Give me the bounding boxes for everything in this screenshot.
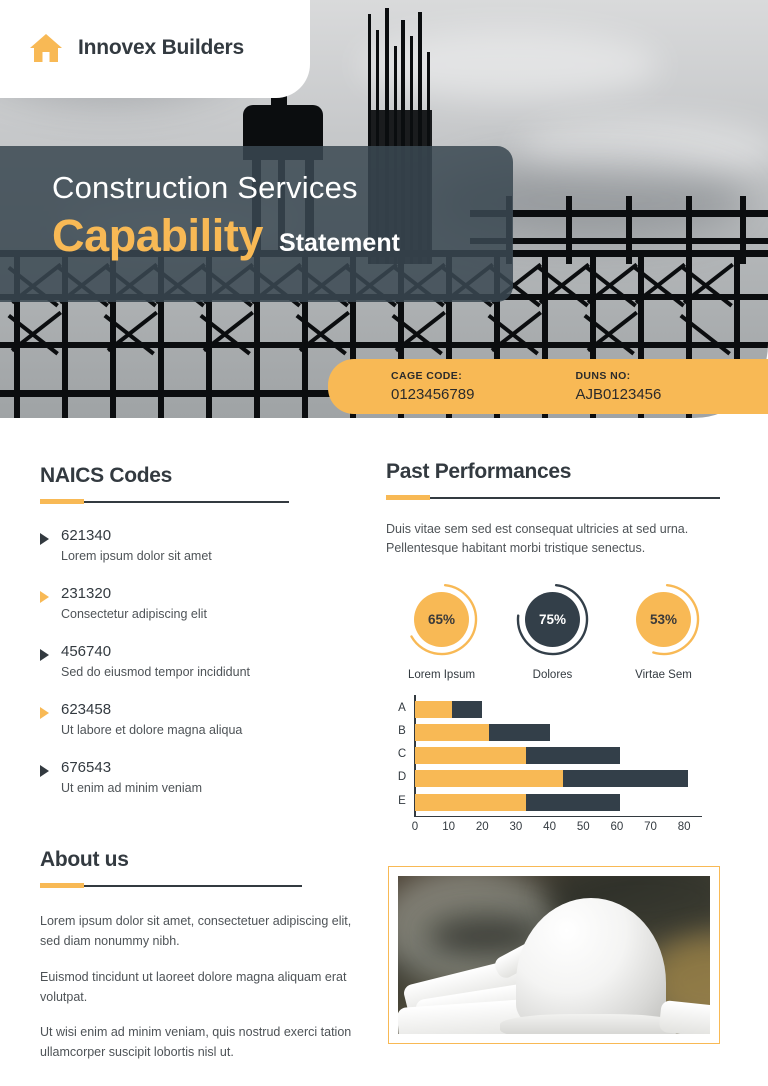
cage-code-value: 0123456789: [391, 386, 474, 403]
hero-subtitle: Construction Services: [52, 170, 358, 206]
bar-segment-series-2: [489, 724, 550, 741]
divider-dark-segment: [430, 497, 720, 499]
naics-item-text: 231320Consectetur adipiscing elit: [61, 585, 207, 621]
hero-title: Capability Statement: [52, 210, 400, 262]
donut-gauge-chart: 65%Lorem Ipsum75%Dolores53%Virtae Sem: [386, 582, 720, 681]
bar-chart-x-tick-label: 60: [605, 821, 629, 833]
stacked-bar-chart: ABCDE01020304050607080: [386, 695, 711, 840]
bar-chart-bar: [415, 724, 550, 741]
bar-chart-bar: [415, 747, 620, 764]
bar-chart-x-tick-label: 10: [437, 821, 461, 833]
brand-name: Innovex Builders: [78, 36, 244, 60]
divider-dark-segment: [84, 501, 289, 503]
about-us-heading: About us: [40, 848, 352, 872]
bar-chart-x-tick-label: 50: [571, 821, 595, 833]
bar-chart-x-tick-label: 0: [403, 821, 427, 833]
bullet-triangle-icon: [40, 533, 49, 545]
cage-code-label: CAGE CODE:: [391, 370, 474, 382]
naics-divider: [40, 499, 340, 503]
duns-number-block: DUNS NO: AJB0123456: [575, 370, 661, 403]
bar-segment-series-1: [415, 724, 489, 741]
donut-gauge: 75%Dolores: [497, 582, 608, 681]
naics-item-text: 456740Sed do eiusmod tempor incididunt: [61, 643, 250, 679]
donut-gauge: 65%Lorem Ipsum: [386, 582, 497, 681]
bullet-triangle-icon: [40, 765, 49, 777]
bullet-triangle-icon: [40, 707, 49, 719]
bar-segment-series-1: [415, 770, 563, 787]
naics-item: 456740Sed do eiusmod tempor incididunt: [40, 643, 340, 679]
naics-item: 676543Ut enim ad minim veniam: [40, 759, 340, 795]
bar-segment-series-2: [563, 770, 687, 787]
naics-heading: NAICS Codes: [40, 464, 340, 488]
past-performances-heading: Past Performances: [386, 460, 720, 484]
bar-chart-y-tick-label: C: [394, 748, 410, 760]
divider-accent-segment: [386, 495, 430, 500]
bar-segment-series-2: [526, 747, 620, 764]
bar-chart-bar: [415, 701, 482, 718]
divider-accent-segment: [40, 499, 84, 504]
cage-code-block: CAGE CODE: 0123456789: [391, 370, 474, 403]
bar-chart-y-tick-label: E: [394, 795, 410, 807]
about-us-body: Lorem ipsum dolor sit amet, consectetuer…: [40, 911, 352, 1063]
bar-chart-x-tick-label: 20: [470, 821, 494, 833]
naics-item: 623458Ut labore et dolore magna aliqua: [40, 701, 340, 737]
naics-description: Ut enim ad minim veniam: [61, 781, 202, 795]
donut-graphic: 65%: [404, 582, 479, 657]
bullet-triangle-icon: [40, 591, 49, 603]
duns-number-value: AJB0123456: [575, 386, 661, 403]
donut-graphic: 75%: [515, 582, 590, 657]
donut-label: Lorem Ipsum: [386, 669, 497, 681]
donut-gauge: 53%Virtae Sem: [608, 582, 719, 681]
bar-segment-series-2: [452, 701, 482, 718]
bullet-triangle-icon: [40, 649, 49, 661]
bar-chart-y-tick-label: D: [394, 771, 410, 783]
bar-chart-x-tick-label: 30: [504, 821, 528, 833]
bar-segment-series-1: [415, 747, 526, 764]
donut-label: Virtae Sem: [608, 669, 719, 681]
bar-chart-x-tick-label: 40: [538, 821, 562, 833]
donut-value: 53%: [636, 592, 691, 647]
naics-code: 231320: [61, 585, 111, 602]
naics-item: 231320Consectetur adipiscing elit: [40, 585, 340, 621]
donut-value: 65%: [414, 592, 469, 647]
bar-segment-series-1: [415, 701, 452, 718]
naics-code: 676543: [61, 759, 111, 776]
bar-chart-x-tick-label: 80: [672, 821, 696, 833]
about-us-paragraph: Euismod tincidunt ut laoreet dolore magn…: [40, 967, 352, 1008]
divider-dark-segment: [84, 885, 302, 887]
about-us-paragraph: Ut wisi enim ad minim veniam, quis nostr…: [40, 1022, 352, 1063]
naics-code: 623458: [61, 701, 111, 718]
donut-label: Dolores: [497, 669, 608, 681]
naics-code: 621340: [61, 527, 111, 544]
donut-graphic: 53%: [626, 582, 701, 657]
naics-item-text: 621340Lorem ipsum dolor sit amet: [61, 527, 212, 563]
past-performances-section: Past Performances Duis vitae sem sed est…: [386, 460, 720, 840]
about-us-section: About us Lorem ipsum dolor sit amet, con…: [40, 848, 352, 1078]
naics-item-text: 676543Ut enim ad minim veniam: [61, 759, 202, 795]
naics-code: 456740: [61, 643, 111, 660]
home-icon: [28, 32, 64, 64]
naics-section: NAICS Codes 621340Lorem ipsum dolor sit …: [40, 464, 340, 817]
bar-chart-y-tick-label: A: [394, 702, 410, 714]
duns-number-label: DUNS NO:: [575, 370, 661, 382]
bar-segment-series-1: [415, 794, 526, 811]
bar-chart-y-tick-label: B: [394, 725, 410, 737]
naics-description: Sed do eiusmod tempor incididunt: [61, 665, 250, 679]
past-performances-divider: [386, 495, 720, 499]
hero-banner: Construction Services Capability Stateme…: [0, 0, 768, 418]
identifier-codes-bar: CAGE CODE: 0123456789 DUNS NO: AJB012345…: [328, 359, 768, 414]
hero-title-accent: Capability: [52, 210, 263, 262]
brand-logo-card: Innovex Builders: [0, 0, 310, 98]
bar-segment-series-2: [526, 794, 620, 811]
hard-hat-photo: [398, 876, 710, 1034]
naics-list: 621340Lorem ipsum dolor sit amet231320Co…: [40, 527, 340, 795]
divider-accent-segment: [40, 883, 84, 888]
about-us-divider: [40, 883, 352, 887]
naics-description: Consectetur adipiscing elit: [61, 607, 207, 621]
hero-title-rest: Statement: [279, 229, 400, 258]
naics-description: Ut labore et dolore magna aliqua: [61, 723, 242, 737]
about-us-paragraph: Lorem ipsum dolor sit amet, consectetuer…: [40, 911, 352, 952]
bar-chart-bar: [415, 794, 620, 811]
hard-hat-photo-frame: [388, 866, 720, 1044]
donut-value: 75%: [525, 592, 580, 647]
hero-title-panel: Construction Services Capability Stateme…: [0, 146, 513, 302]
naics-description: Lorem ipsum dolor sit amet: [61, 549, 212, 563]
bar-chart-bar: [415, 770, 688, 787]
bar-chart-x-tick-label: 70: [639, 821, 663, 833]
naics-item: 621340Lorem ipsum dolor sit amet: [40, 527, 340, 563]
past-performances-intro: Duis vitae sem sed est consequat ultrici…: [386, 520, 720, 559]
bar-chart-plot-area: [415, 695, 701, 817]
naics-item-text: 623458Ut labore et dolore magna aliqua: [61, 701, 242, 737]
